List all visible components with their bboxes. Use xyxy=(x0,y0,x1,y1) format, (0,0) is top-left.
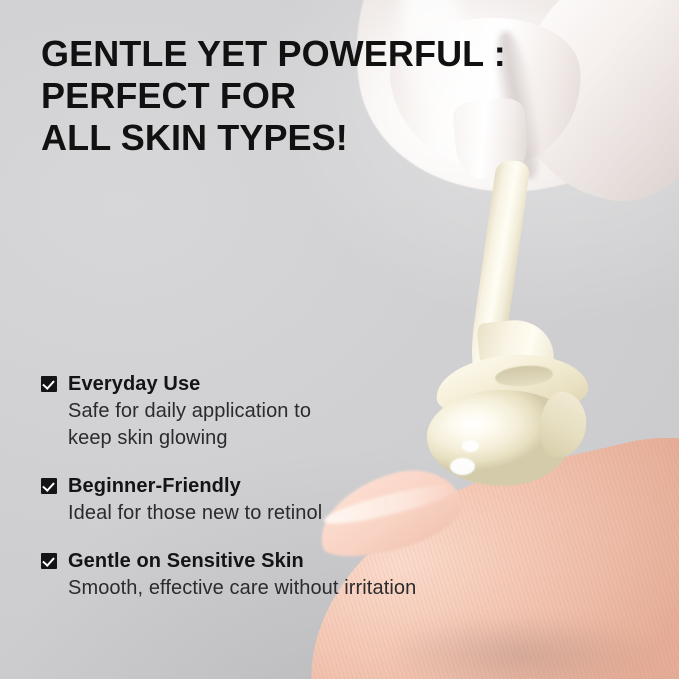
headline: GENTLE YET POWERFUL : PERFECT FOR ALL SK… xyxy=(41,33,506,159)
benefit-heading-row: Beginner-Friendly xyxy=(41,474,641,498)
benefit-title: Gentle on Sensitive Skin xyxy=(68,549,304,573)
benefit-item-everyday-use: Everyday Use Safe for daily application … xyxy=(41,372,641,452)
benefit-item-gentle-sensitive-skin: Gentle on Sensitive Skin Smooth, effecti… xyxy=(41,549,641,602)
benefit-heading-row: Everyday Use xyxy=(41,372,641,396)
benefit-description: Safe for daily application to keep skin … xyxy=(68,398,641,452)
benefit-description: Ideal for those new to retinol xyxy=(68,500,641,527)
benefit-description: Smooth, effective care without irritatio… xyxy=(68,575,641,602)
benefit-item-beginner-friendly: Beginner-Friendly Ideal for those new to… xyxy=(41,474,641,527)
benefit-title: Everyday Use xyxy=(68,372,200,396)
checkbox-checked-icon xyxy=(41,478,57,494)
benefit-heading-row: Gentle on Sensitive Skin xyxy=(41,549,641,573)
product-feature-poster: GENTLE YET POWERFUL : PERFECT FOR ALL SK… xyxy=(0,0,679,679)
benefit-title: Beginner-Friendly xyxy=(68,474,241,498)
benefits-list: Everyday Use Safe for daily application … xyxy=(41,372,641,602)
checkbox-checked-icon xyxy=(41,376,57,392)
content-layer: GENTLE YET POWERFUL : PERFECT FOR ALL SK… xyxy=(0,0,679,679)
checkbox-checked-icon xyxy=(41,553,57,569)
